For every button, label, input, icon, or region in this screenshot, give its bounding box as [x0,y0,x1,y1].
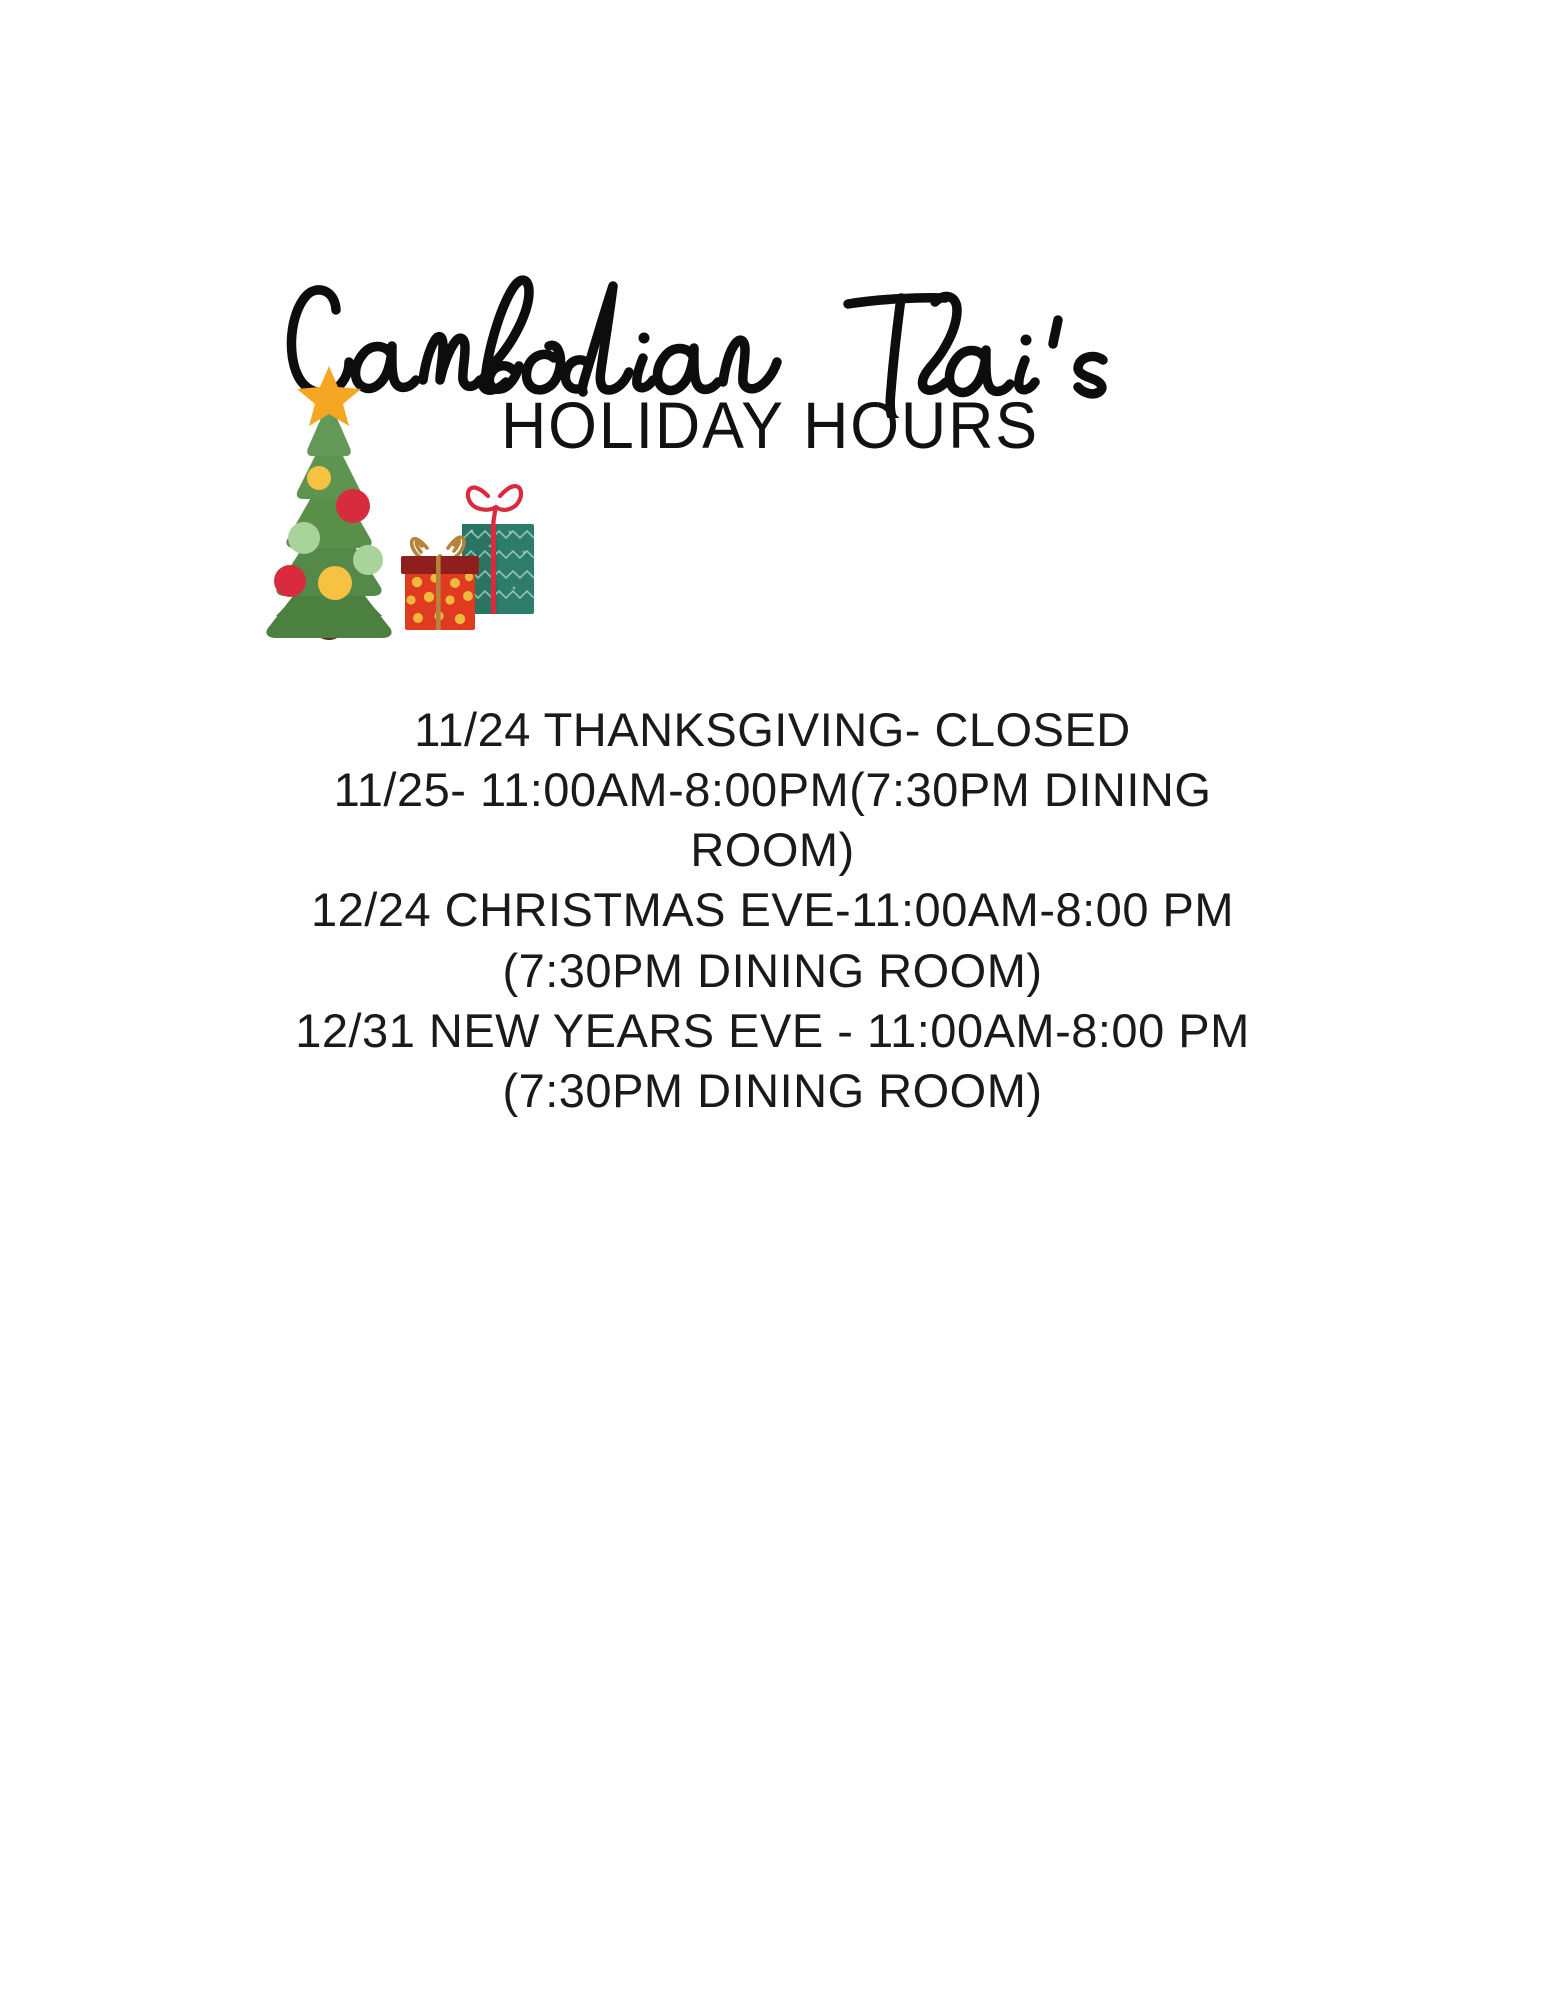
hours-line: 12/31 NEW YEARS EVE - 11:00AM-8:00 PM [95,1001,1450,1061]
hours-line: (7:30PM DINING ROOM) [95,941,1450,1001]
christmas-tree-with-gifts-icon [222,366,592,656]
holiday-hours-poster: Cambodian Thai's [0,0,1545,2000]
hours-text-block: 11/24 THANKSGIVING- CLOSED 11/25- 11:00A… [95,700,1450,1121]
hours-line: 11/25- 11:00AM-8:00PM(7:30PM DINING [95,760,1450,820]
hours-line: 11/24 THANKSGIVING- CLOSED [95,700,1450,760]
hours-line: ROOM) [95,820,1450,880]
hours-line: (7:30PM DINING ROOM) [95,1061,1450,1121]
hours-line: 12/24 CHRISTMAS EVE-11:00AM-8:00 PM [95,880,1450,940]
